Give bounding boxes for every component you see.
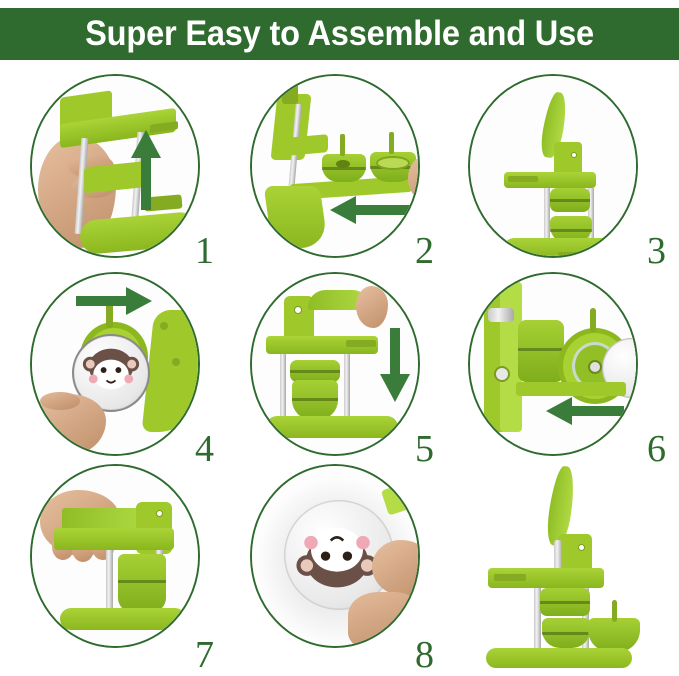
press-base-plate bbox=[266, 416, 398, 438]
step-panel-1[interactable]: 1 bbox=[14, 70, 240, 266]
mold-cavity bbox=[376, 156, 410, 170]
step-number: 7 bbox=[195, 636, 214, 674]
press-base-plate bbox=[60, 608, 186, 630]
left-arrow-icon bbox=[544, 396, 626, 426]
step-1-photo bbox=[32, 76, 198, 256]
press-upper-arm bbox=[286, 134, 328, 156]
mold-pin bbox=[612, 600, 617, 622]
steel-post bbox=[344, 354, 350, 420]
step-6-photo-circle bbox=[468, 272, 638, 456]
press-lever-stub bbox=[282, 82, 298, 104]
press-grip-ridges bbox=[508, 176, 538, 182]
mold-die-lower bbox=[542, 618, 590, 648]
mold-die-upper bbox=[540, 588, 590, 616]
spare-mold-cup bbox=[588, 618, 640, 652]
step-panel-6[interactable]: 6 bbox=[452, 268, 678, 464]
steel-shaft bbox=[488, 308, 514, 322]
step-4-photo-circle bbox=[30, 272, 200, 456]
press-base-plate bbox=[264, 186, 329, 248]
step-panel-7[interactable]: 7 bbox=[14, 460, 240, 670]
slide-rail bbox=[516, 382, 626, 396]
step-2-photo-circle bbox=[250, 74, 420, 258]
step-8-photo-circle bbox=[250, 464, 420, 648]
press-base-plate bbox=[486, 648, 632, 668]
mold-die-lower bbox=[292, 380, 338, 420]
steps-grid: 1 bbox=[0, 62, 679, 670]
header-banner: Super Easy to Assemble and Use bbox=[0, 8, 679, 60]
hand bbox=[356, 286, 388, 328]
up-arrow-icon bbox=[128, 128, 164, 212]
press-grip-ridges bbox=[494, 574, 526, 581]
screw-icon bbox=[294, 306, 302, 314]
step-4-photo bbox=[32, 274, 198, 454]
mold-die-lower bbox=[118, 554, 166, 612]
press-body bbox=[142, 310, 200, 432]
step-1-photo-circle bbox=[30, 74, 200, 258]
mold-pin bbox=[340, 134, 345, 156]
step-number: 1 bbox=[195, 232, 214, 270]
step-panel-4[interactable]: 4 bbox=[14, 268, 240, 464]
page-title: Super Easy to Assemble and Use bbox=[85, 14, 594, 54]
mold-die-lower bbox=[322, 154, 366, 182]
step-panel-8[interactable]: 8 bbox=[234, 460, 460, 670]
step-7-photo bbox=[32, 466, 198, 646]
press-top-arm bbox=[54, 528, 174, 550]
screw-icon bbox=[578, 544, 585, 551]
step-number: 3 bbox=[647, 232, 666, 270]
mold-die-upper bbox=[518, 320, 564, 382]
mold-center-pin bbox=[588, 360, 602, 374]
step-3-photo bbox=[470, 76, 636, 256]
screw-icon bbox=[156, 510, 163, 517]
step-6-photo bbox=[470, 274, 636, 454]
step-3-photo-circle bbox=[468, 74, 638, 258]
product-hero-photo bbox=[462, 460, 662, 670]
step-5-photo bbox=[252, 274, 418, 454]
step-panel-3[interactable]: 3 bbox=[452, 70, 678, 266]
finger bbox=[348, 592, 420, 648]
press-base-tab bbox=[558, 252, 578, 258]
screw-icon bbox=[494, 366, 510, 382]
left-arrow-icon bbox=[328, 194, 412, 226]
steel-post bbox=[280, 354, 286, 420]
product-hero-panel bbox=[452, 460, 678, 670]
steel-post bbox=[106, 550, 113, 612]
mold-pin bbox=[389, 132, 394, 154]
press-grip-ridges bbox=[346, 340, 376, 347]
finger bbox=[40, 392, 80, 410]
mold-pin bbox=[590, 308, 596, 332]
step-panel-5[interactable]: 5 bbox=[234, 268, 460, 464]
step-7-photo-circle bbox=[30, 464, 200, 648]
step-5-photo-circle bbox=[250, 272, 420, 456]
hand bbox=[636, 336, 638, 426]
mold-die-upper bbox=[550, 188, 590, 212]
screw-icon bbox=[172, 358, 180, 366]
step-2-photo bbox=[252, 76, 418, 256]
step-8-photo bbox=[252, 466, 418, 646]
screw-icon bbox=[571, 152, 577, 158]
step-number: 8 bbox=[415, 636, 434, 674]
right-arrow-icon bbox=[74, 286, 154, 316]
mold-hole bbox=[336, 160, 350, 168]
step-number: 2 bbox=[415, 232, 434, 270]
mold-die-upper bbox=[290, 360, 340, 382]
screw-icon bbox=[160, 322, 168, 330]
down-arrow-icon bbox=[378, 326, 412, 404]
step-panel-2[interactable]: 2 bbox=[234, 70, 460, 266]
